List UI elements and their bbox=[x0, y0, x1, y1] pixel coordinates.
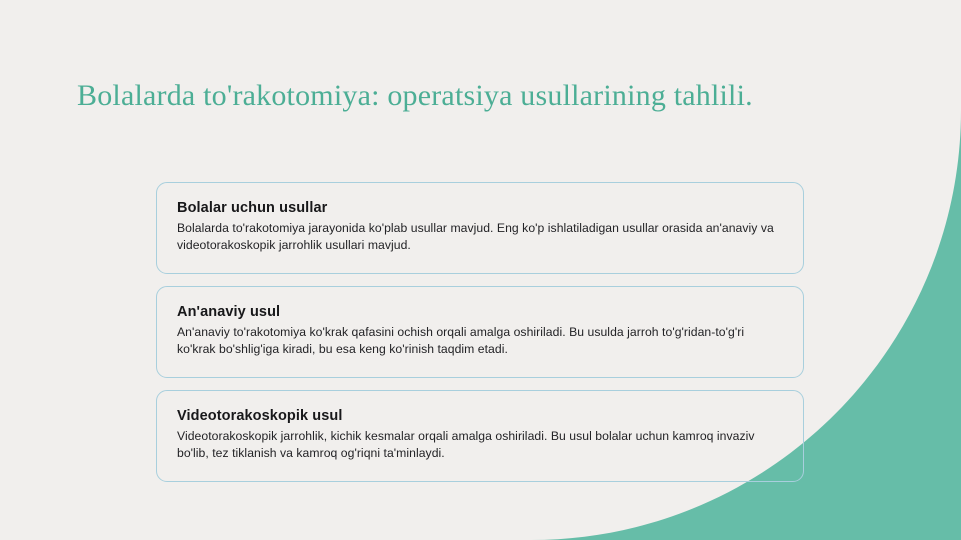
card-item-videotorakoskopik-usul: Videotorakoskopik usul Videotorakoskopik… bbox=[156, 390, 804, 482]
card-heading: An'anaviy usul bbox=[177, 303, 783, 322]
card-body-text: Videotorakoskopik jarrohlik, kichik kesm… bbox=[177, 428, 783, 461]
card-item-bolalar-uchun-usullar: Bolalar uchun usullar Bolalarda to'rakot… bbox=[156, 182, 804, 274]
card-list: Bolalar uchun usullar Bolalarda to'rakot… bbox=[156, 182, 804, 482]
page-title: Bolalarda to'rakotomiya: operatsiya usul… bbox=[77, 76, 753, 116]
card-heading: Bolalar uchun usullar bbox=[177, 199, 783, 218]
card-body-text: An'anaviy to'rakotomiya ko'krak qafasini… bbox=[177, 324, 783, 357]
card-heading: Videotorakoskopik usul bbox=[177, 407, 783, 426]
slide-canvas: Bolalarda to'rakotomiya: operatsiya usul… bbox=[0, 0, 961, 540]
card-item-ananaviy-usul: An'anaviy usul An'anaviy to'rakotomiya k… bbox=[156, 286, 804, 378]
card-body-text: Bolalarda to'rakotomiya jarayonida ko'pl… bbox=[177, 220, 783, 253]
